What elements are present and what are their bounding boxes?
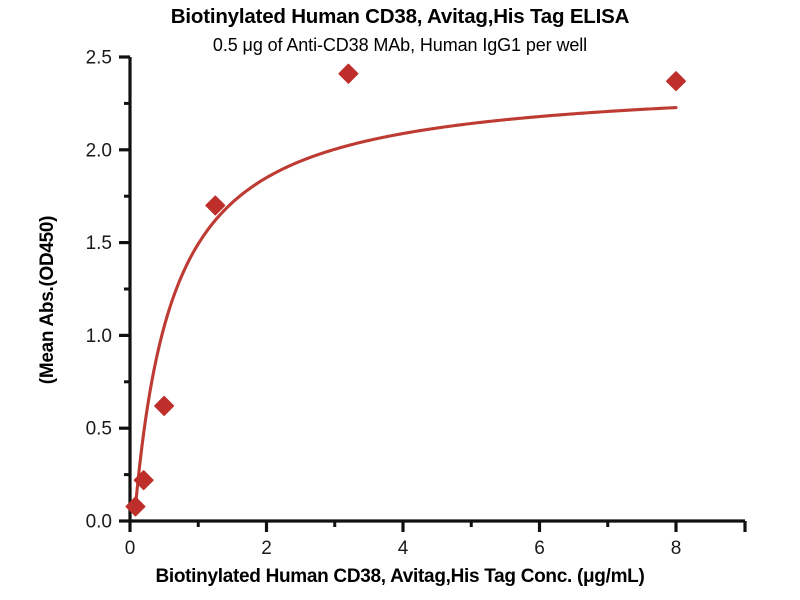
x-axis-tick-labels: 02468 [125,538,682,559]
svg-text:2.0: 2.0 [86,140,112,161]
svg-text:0.0: 0.0 [86,512,112,533]
svg-text:1.0: 1.0 [86,326,112,347]
y-axis-label: (Mean Abs.(OD450) [37,80,59,520]
elisa-chart-figure: Biotinylated Human CD38, Avitag,His Tag … [0,0,800,600]
svg-text:4: 4 [398,538,409,559]
fit-curve [135,108,676,507]
svg-text:1.5: 1.5 [86,233,112,254]
y-axis-ticks [119,57,130,521]
plot-area: 0.00.51.01.52.02.5 02468 [0,0,800,600]
svg-text:2: 2 [261,538,272,559]
x-axis-label: Biotinylated Human CD38, Avitag,His Tag … [0,566,800,588]
x-axis-ticks [130,521,745,532]
svg-text:6: 6 [534,538,545,559]
svg-text:0: 0 [125,538,136,559]
svg-text:8: 8 [671,538,682,559]
svg-text:2.5: 2.5 [86,48,112,69]
y-axis-tick-labels: 0.00.51.01.52.02.5 [86,48,112,533]
svg-text:0.5: 0.5 [86,419,112,440]
